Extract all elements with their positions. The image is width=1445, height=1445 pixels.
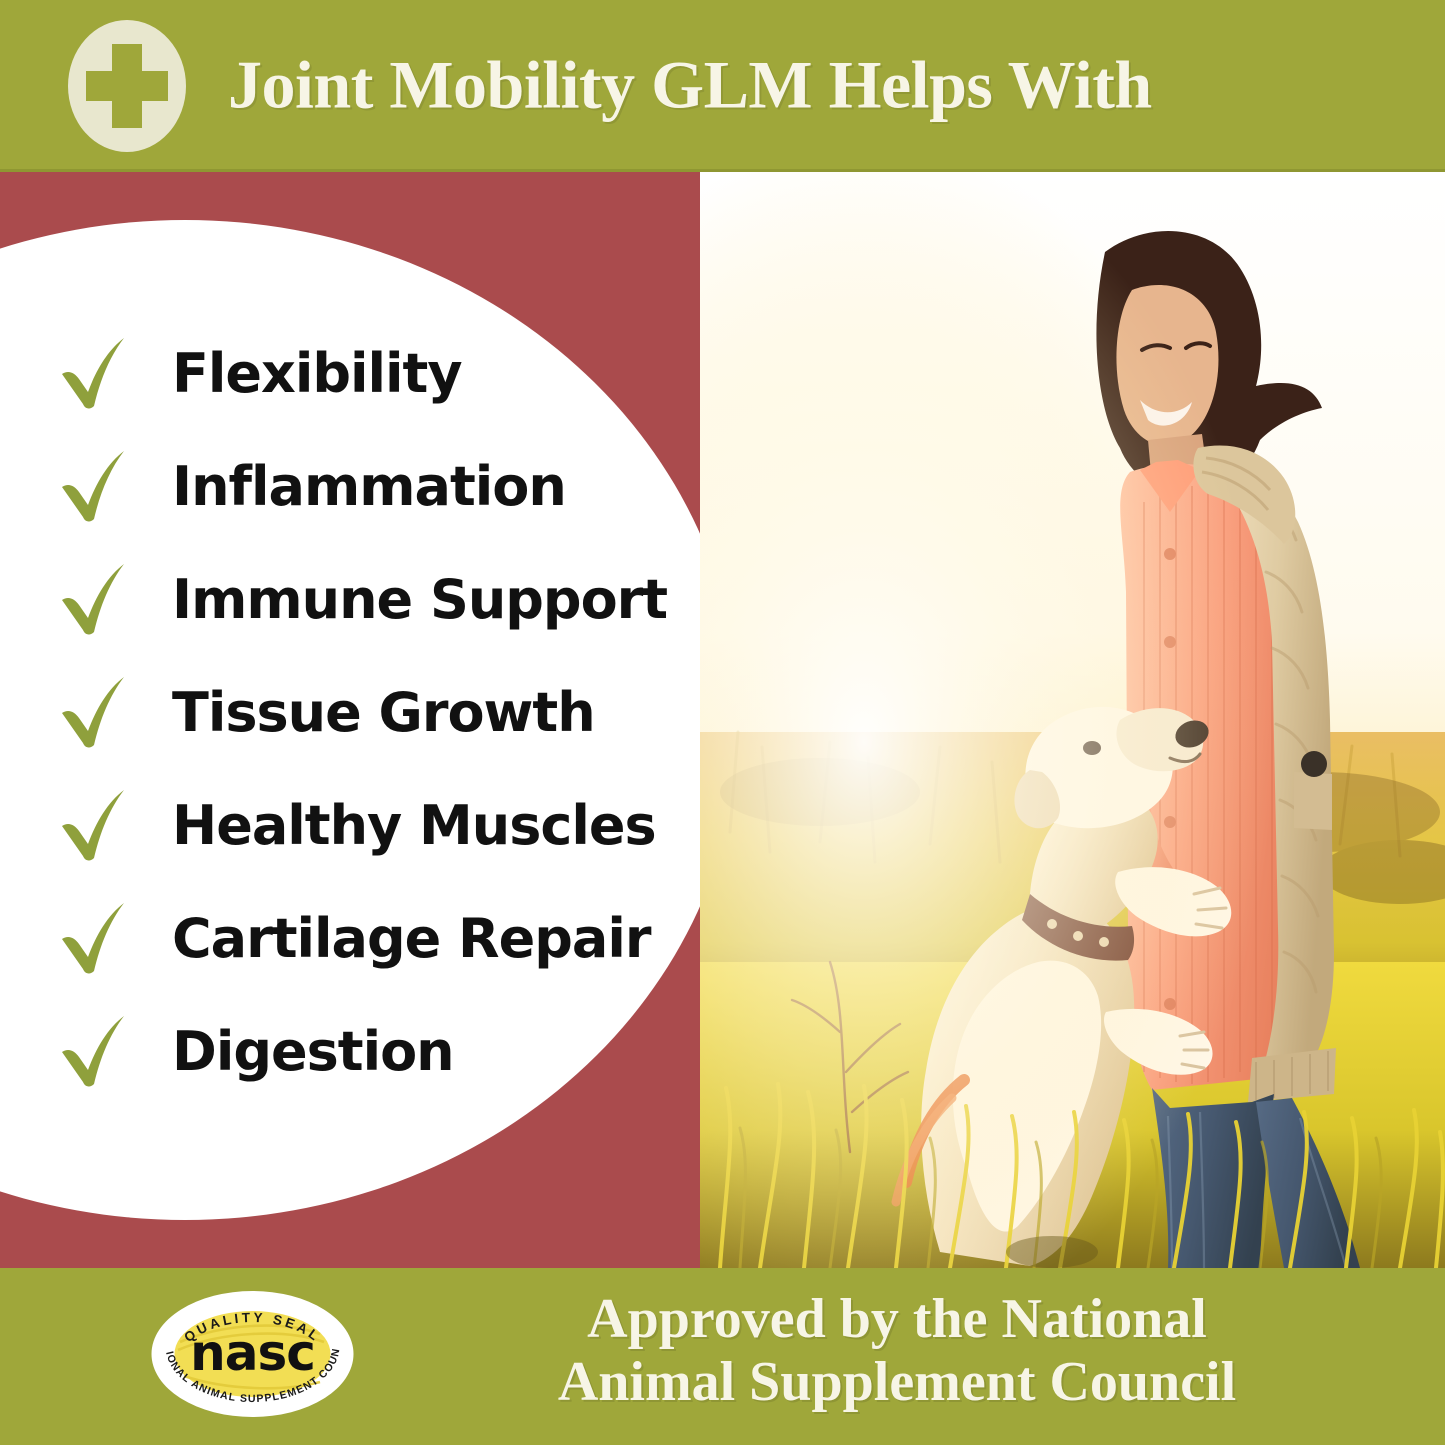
list-item: Flexibility [58,330,462,416]
list-item: Inflammation [58,443,566,529]
check-icon [58,334,130,412]
check-icon [58,786,130,864]
list-item-label: Digestion [172,1020,454,1083]
cross-horizontal-bar [86,71,169,101]
lifestyle-photo [700,172,1445,1268]
list-item-label: Flexibility [172,342,462,405]
product-infographic: Joint Mobility GLM Helps With Flexibilit… [0,0,1445,1445]
list-item-label: Inflammation [172,455,566,518]
seal-wordmark: nasc [190,1324,315,1382]
nasc-quality-seal-icon: QUALITY SEAL NATIONAL ANIMAL SUPPLEMENT … [150,1290,355,1418]
check-icon [58,1012,130,1090]
footer-line-1: Approved by the National [392,1288,1402,1351]
medical-cross-icon [68,20,186,152]
page-title: Joint Mobility GLM Helps With [228,45,1152,124]
footer-approval-text: Approved by the National Animal Suppleme… [392,1288,1402,1413]
list-item: Healthy Muscles [58,782,656,868]
list-item: Immune Support [58,556,667,642]
check-icon [58,899,130,977]
body-area: Flexibility Inflammation Immune Support [0,172,1445,1268]
header-band: Joint Mobility GLM Helps With [0,0,1445,172]
list-item-label: Immune Support [172,568,667,631]
check-icon [58,673,130,751]
footer-line-2: Animal Supplement Council [392,1351,1402,1414]
list-item: Tissue Growth [58,669,595,755]
list-item: Digestion [58,1008,454,1094]
list-item: Cartilage Repair [58,895,651,981]
check-icon [58,560,130,638]
benefit-list: Flexibility Inflammation Immune Support [0,172,700,1268]
check-icon [58,447,130,525]
list-item-label: Tissue Growth [172,681,595,744]
list-item-label: Cartilage Repair [172,907,651,970]
list-item-label: Healthy Muscles [172,794,656,857]
